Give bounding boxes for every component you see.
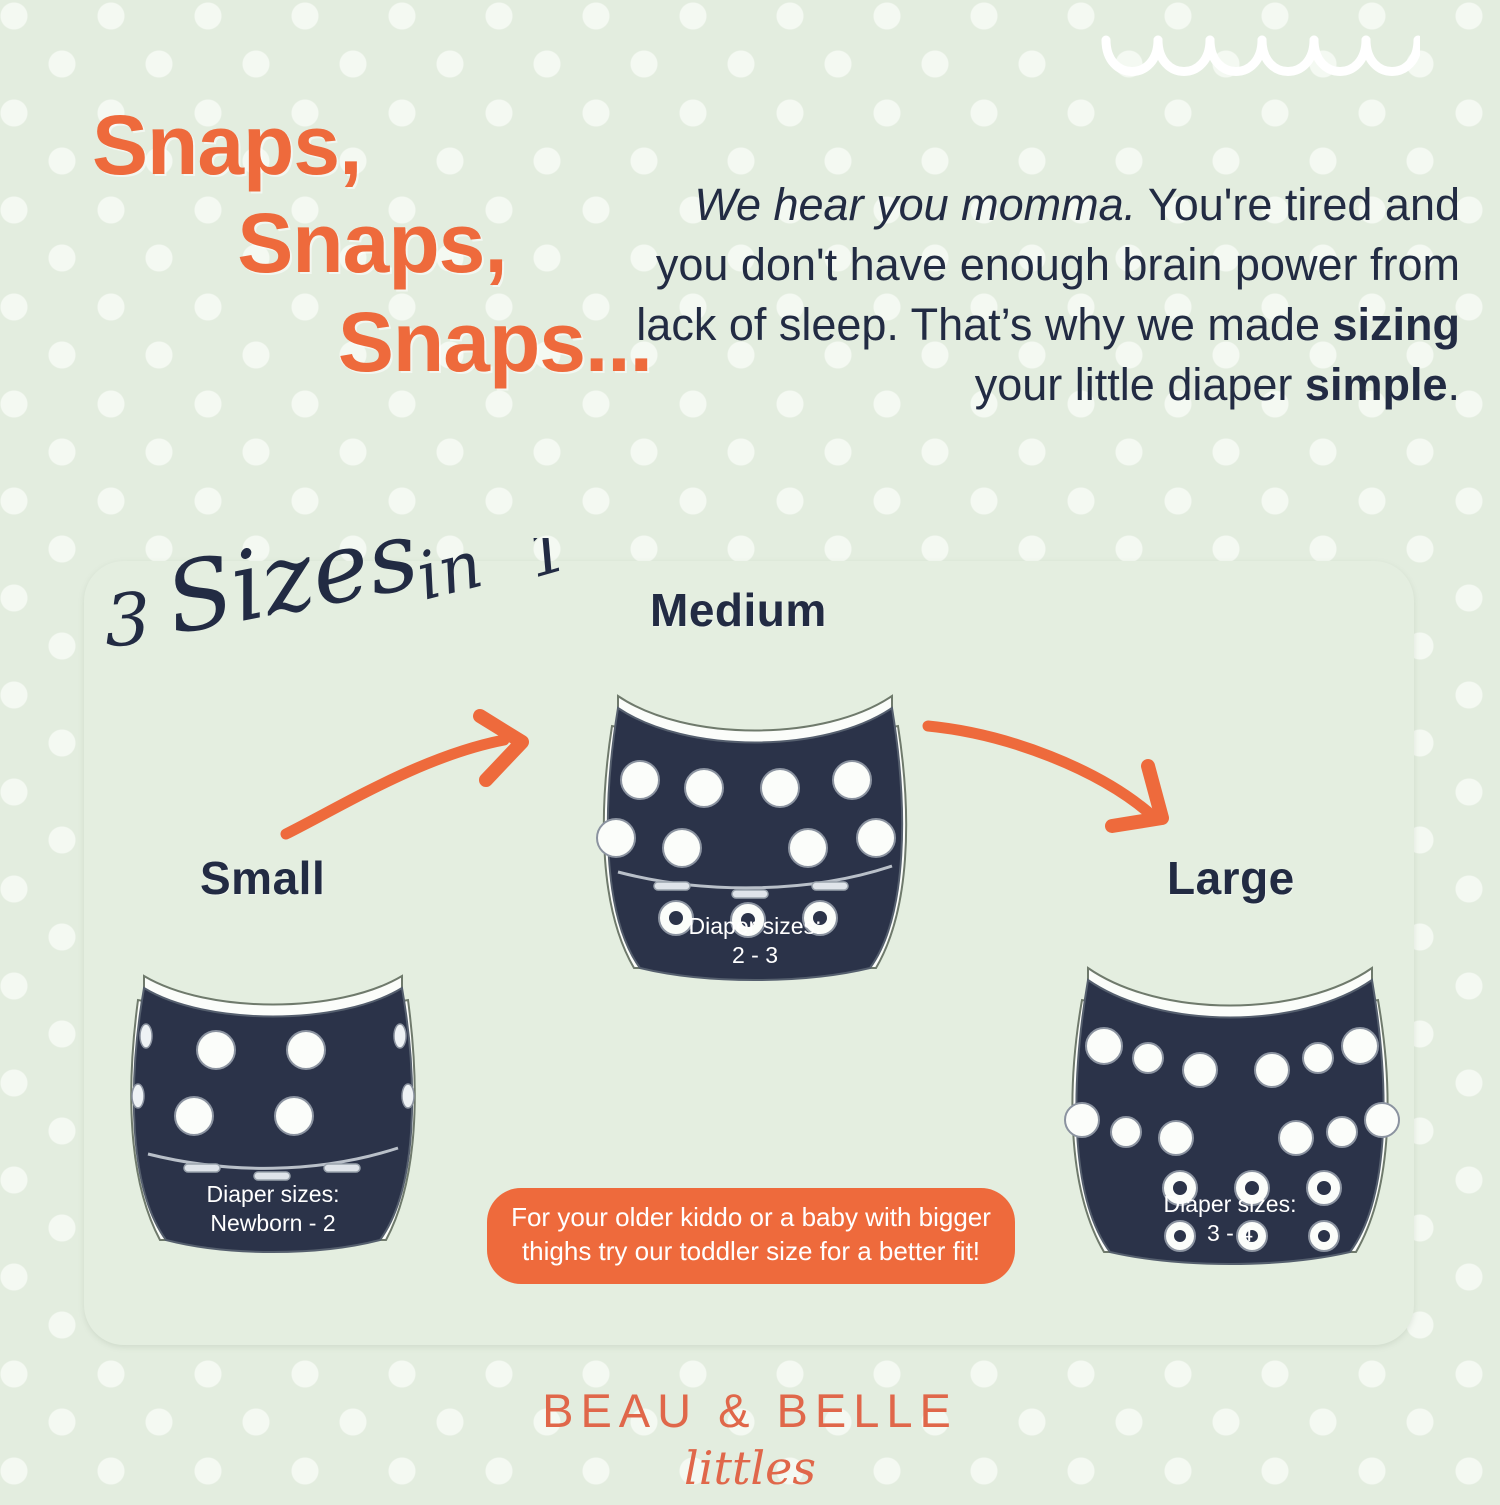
brand-name-secondary: littles [600,1440,900,1500]
svg-text:Sizes: Sizes [157,538,427,657]
lede-bold-simple: simple [1305,359,1448,410]
diaper-illustration-small: Diaper sizes: Newborn - 2 [118,940,428,1260]
brand-logo: BEAU & BELLE littles [0,1383,1500,1505]
brand-name-primary: BEAU & BELLE [0,1383,1500,1438]
script-heading-3-sizes-in-1: 3 Sizes in 1 [106,538,626,668]
size-label-medium: Medium [650,583,827,637]
scallop-wave-icon [1100,22,1420,92]
svg-text:littles: littles [684,1441,816,1495]
lede-text-2: your little diaper [975,359,1305,410]
diaper-svg-small [118,940,428,1260]
diaper-svg-medium [590,666,920,986]
curved-arrow-right-down-icon [900,700,1200,850]
lede-text-3: . [1447,359,1460,410]
curved-arrow-right-up-icon [272,694,562,854]
diaper-illustration-large: Diaper sizes: 3 - 4 [1060,940,1400,1270]
page-headline: Snaps, Snaps, Snaps... [92,96,652,391]
lede-bold-sizing: sizing [1332,299,1460,350]
diaper-svg-large [1060,940,1400,1270]
size-label-large: Large [1167,851,1295,905]
lede-italic-emphasis: We hear you momma. [694,179,1136,230]
headline-line-3: Snaps... [92,293,652,391]
diaper-illustration-medium: Diaper sizes: 2 - 3 [590,666,920,986]
size-label-small: Small [200,851,325,905]
callout-line-1: For your older kiddo or a baby with bigg… [509,1201,993,1235]
toddler-size-callout: For your older kiddo or a baby with bigg… [487,1188,1015,1284]
headline-line-1: Snaps, [92,96,652,194]
svg-text:1: 1 [518,538,576,592]
svg-text:3: 3 [106,577,153,663]
headline-line-2: Snaps, [92,194,652,292]
callout-line-2: thighs try our toddler size for a better… [509,1235,993,1269]
intro-paragraph: We hear you momma. You're tired and you … [630,175,1460,414]
